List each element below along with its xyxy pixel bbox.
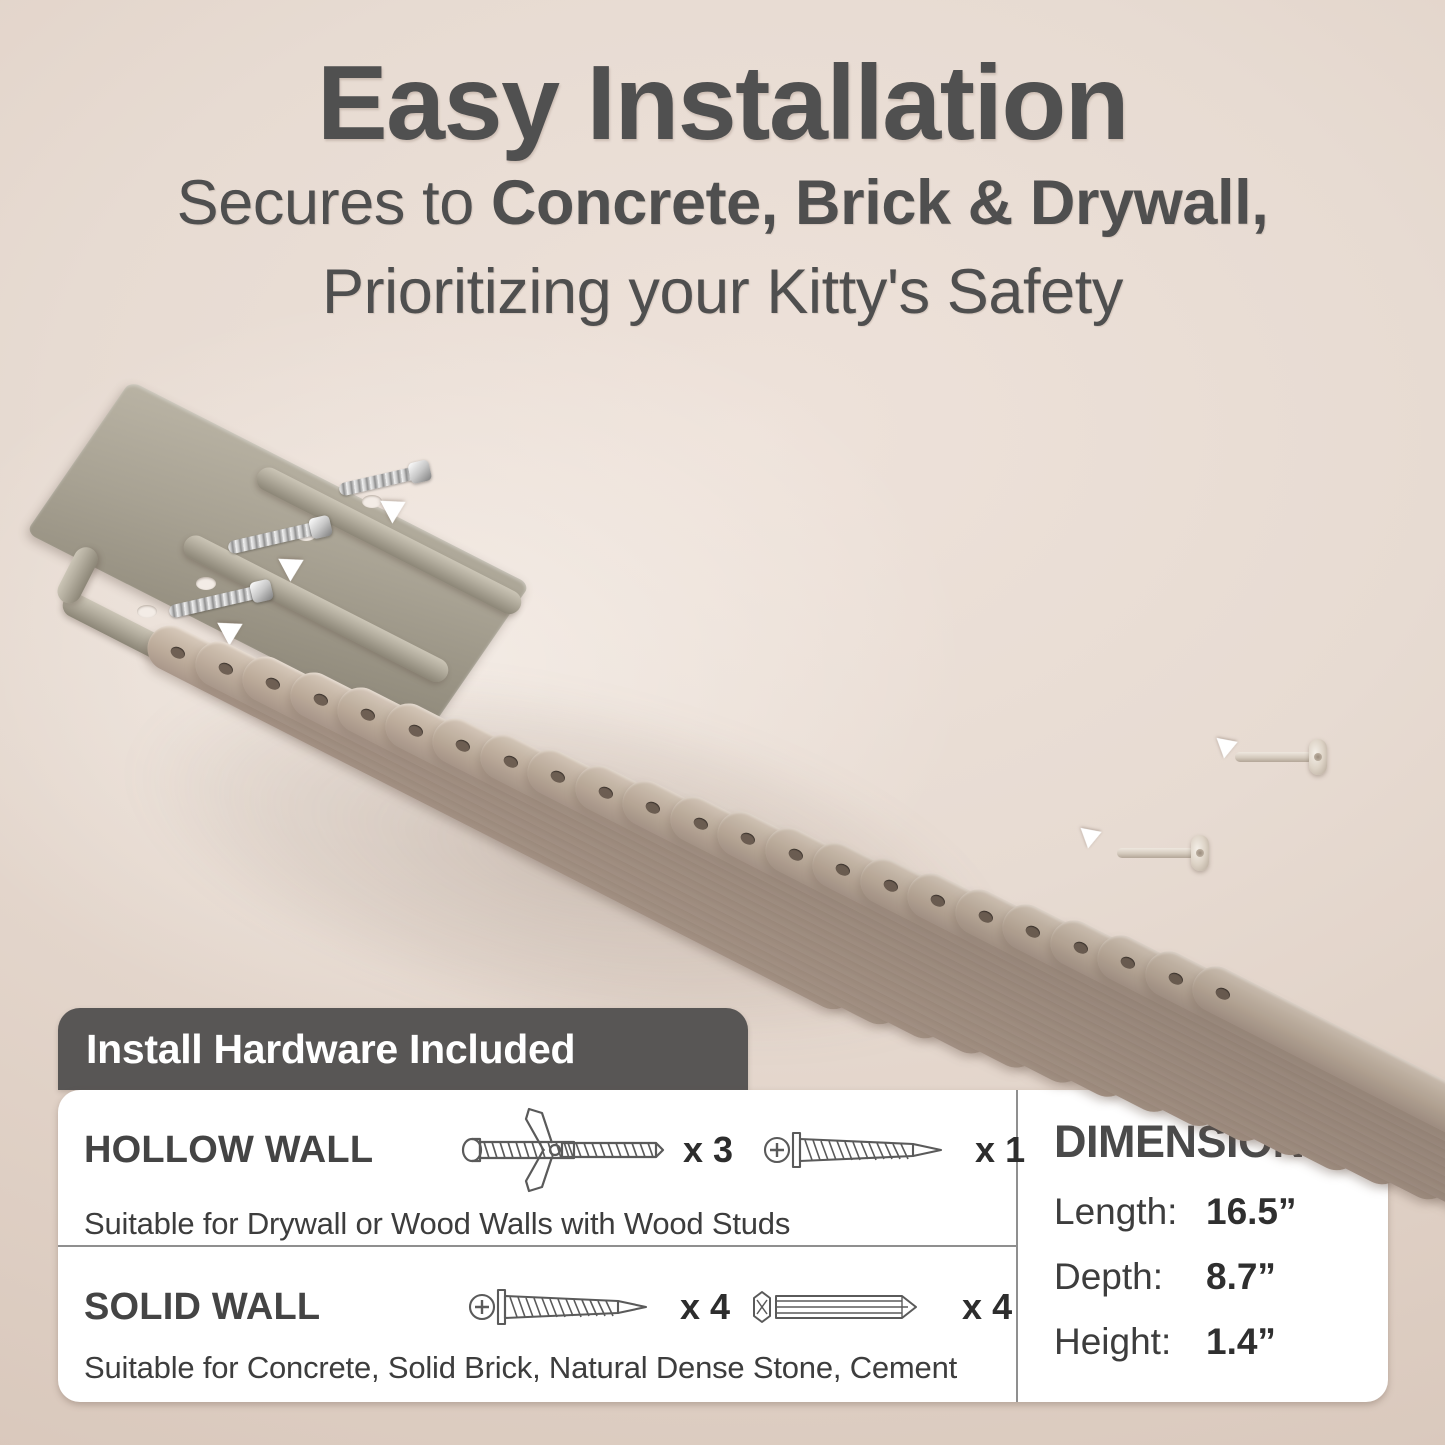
heading-block: Easy Installation Secures to Concrete, B… bbox=[0, 46, 1445, 336]
dimension-row-depth: Depth: 8.7” bbox=[1054, 1256, 1388, 1298]
slat-hole bbox=[454, 737, 472, 754]
toggle-bolt-icon bbox=[456, 1107, 671, 1193]
hardware-row-hollow-wall: HOLLOW WALL bbox=[58, 1090, 1016, 1247]
dimension-value: 16.5” bbox=[1206, 1191, 1297, 1233]
dimension-value: 1.4” bbox=[1206, 1321, 1276, 1363]
wall-anchor-icon bbox=[750, 1278, 950, 1336]
slat-hole bbox=[1071, 939, 1089, 956]
slat-hole bbox=[1119, 954, 1137, 971]
slat-hole bbox=[311, 691, 329, 708]
slat-hole bbox=[596, 784, 614, 801]
slat-hole bbox=[1166, 970, 1184, 987]
hardware-item-wood-screw: x 4 bbox=[468, 1277, 730, 1337]
hardware-item-qty: x 4 bbox=[680, 1286, 730, 1328]
hardware-row-head: HOLLOW WALL bbox=[84, 1107, 1016, 1193]
dimension-row-length: Length: 16.5” bbox=[1054, 1191, 1388, 1233]
wood-screw-icon bbox=[468, 1277, 668, 1337]
install-hardware-tab-label: Install Hardware Included bbox=[86, 1026, 575, 1073]
slat-hole bbox=[834, 861, 852, 878]
slat-hole bbox=[786, 846, 804, 863]
hardware-row-title: HOLLOW WALL bbox=[84, 1129, 456, 1172]
slat-hole bbox=[549, 768, 567, 785]
subtitle-bold: Concrete, Brick & Drywall, bbox=[491, 168, 1268, 238]
dimension-row-height: Height: 1.4” bbox=[1054, 1321, 1388, 1363]
slat-hole bbox=[216, 660, 234, 677]
hardware-item-qty: x 3 bbox=[683, 1129, 733, 1171]
product-image bbox=[0, 410, 1445, 1050]
subtitle-line-2: Prioritizing your Kitty's Safety bbox=[0, 249, 1445, 336]
dimension-value: 8.7” bbox=[1206, 1256, 1276, 1298]
info-card: HOLLOW WALL bbox=[58, 1090, 1388, 1402]
hardware-item-toggle-bolt: x 3 bbox=[456, 1107, 733, 1193]
hardware-column: HOLLOW WALL bbox=[58, 1090, 1018, 1402]
slat-hole bbox=[644, 799, 662, 816]
hardware-row-note: Suitable for Drywall or Wood Walls with … bbox=[84, 1206, 1016, 1242]
slat-hole bbox=[1024, 923, 1042, 940]
hardware-item-wood-screw: x 1 bbox=[763, 1120, 1025, 1180]
slat-hole bbox=[1214, 985, 1232, 1002]
slat-hole bbox=[406, 722, 424, 739]
slat-hole bbox=[739, 830, 757, 847]
hardware-row-head: SOLID WALL x 4 bbox=[84, 1277, 1016, 1337]
slat-hole bbox=[881, 877, 899, 894]
subtitle-line-1: Secures to Concrete, Brick & Drywall, bbox=[0, 160, 1445, 247]
hardware-item-wall-anchor: x 4 bbox=[750, 1278, 1012, 1336]
install-hardware-tab: Install Hardware Included bbox=[58, 1008, 748, 1090]
shelf-slats bbox=[0, 410, 1445, 1050]
hardware-row-note: Suitable for Concrete, Solid Brick, Natu… bbox=[84, 1350, 1016, 1386]
dimension-label: Depth: bbox=[1054, 1256, 1206, 1298]
dimension-label: Height: bbox=[1054, 1321, 1206, 1363]
slat-hole bbox=[501, 753, 519, 770]
hardware-item-qty: x 4 bbox=[962, 1286, 1012, 1328]
slat-hole bbox=[359, 706, 377, 723]
slat-hole bbox=[264, 675, 282, 692]
slat-hole bbox=[691, 815, 709, 832]
slat-hole bbox=[976, 908, 994, 925]
slat-hole bbox=[169, 644, 187, 661]
wood-screw-icon bbox=[763, 1120, 963, 1180]
subtitle-prefix: Secures to bbox=[177, 168, 491, 238]
hardware-row-solid-wall: SOLID WALL x 4 bbox=[58, 1247, 1016, 1402]
hardware-row-title: SOLID WALL bbox=[84, 1286, 456, 1329]
slat-hole bbox=[929, 892, 947, 909]
dimension-label: Length: bbox=[1054, 1191, 1206, 1233]
page-title: Easy Installation bbox=[0, 46, 1445, 160]
